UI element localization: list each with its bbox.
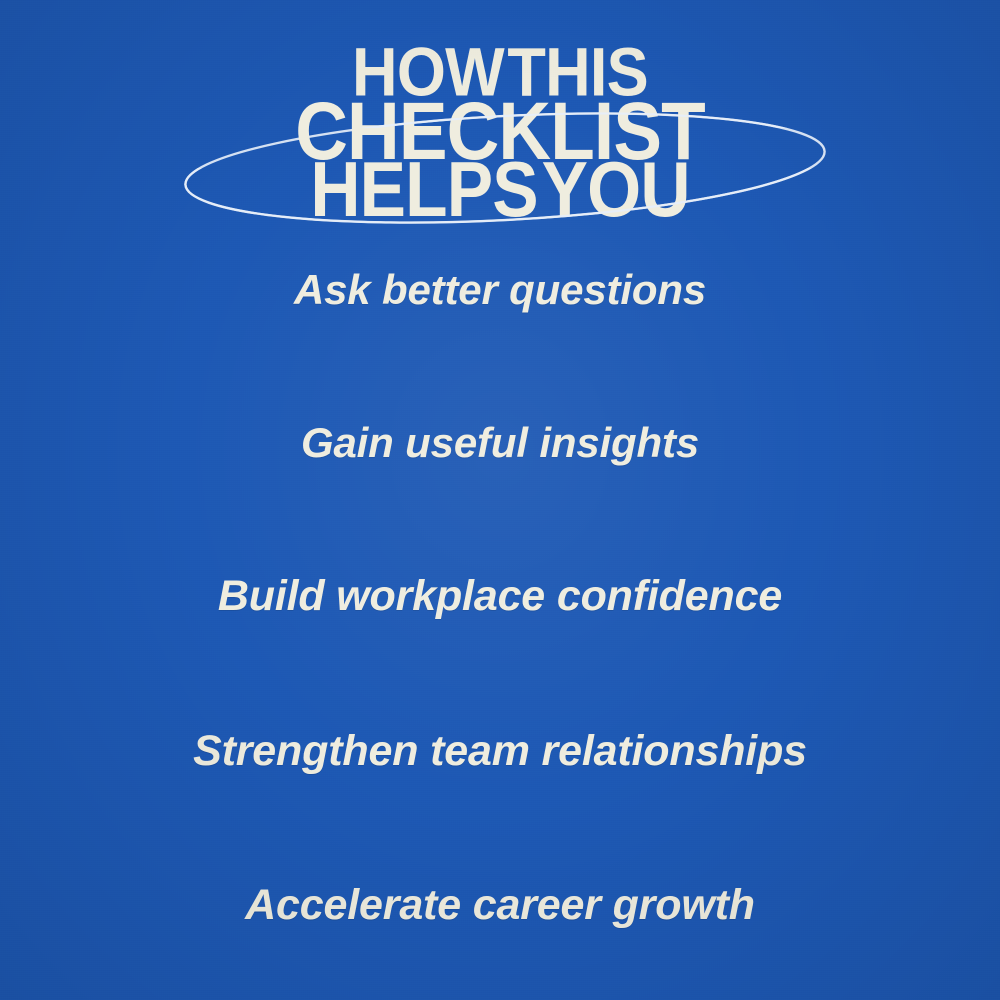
heading-block: HOWTHIS CHECKLIST HELPSYOU — [0, 34, 1000, 234]
benefits-list: Ask better questions Gain useful insight… — [0, 268, 1000, 928]
benefit-item-4: Strengthen team relationships — [0, 729, 1000, 774]
benefit-item-5: Accelerate career growth — [0, 883, 1000, 928]
poster-canvas: HOWTHIS CHECKLIST HELPSYOU — [0, 0, 1000, 1000]
benefit-item-2: Gain useful insights — [0, 421, 1000, 465]
benefit-item-3: Build workplace confidence — [0, 574, 1000, 619]
benefit-item-1: Ask better questions — [0, 268, 1000, 312]
orbit-ring-front-icon — [182, 112, 828, 224]
